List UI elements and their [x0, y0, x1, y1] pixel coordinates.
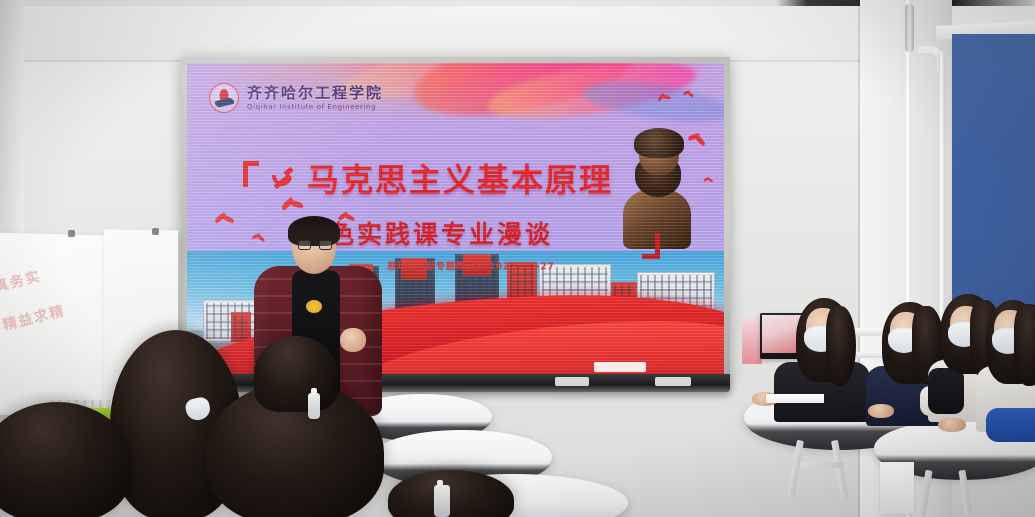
student-seated-4: [980, 300, 1035, 418]
bracket-close-icon: [642, 233, 660, 259]
marx-bust-icon: [621, 131, 693, 249]
whiteboard-text-2: 精益求精: [1, 300, 68, 334]
shirt-graphic: [306, 300, 322, 313]
slide-title-text: 马克思主义基本原理: [307, 155, 613, 201]
student-hand: [938, 418, 966, 432]
student-hair-side: [1014, 304, 1035, 386]
student-foreground-4: [254, 336, 338, 412]
student-hair-side: [826, 306, 856, 386]
swallow-bird-icon: [682, 91, 694, 100]
paper-sheet: [880, 462, 914, 514]
classroom-photo: 齐齐哈尔工程学院 Qiqihar Institute of Engineerin…: [0, 0, 1035, 517]
screen-indicator-badge: [594, 362, 646, 372]
swallow-bird-icon: [703, 178, 713, 185]
water-bottle: [434, 485, 450, 517]
student-sleeve: [928, 368, 964, 414]
university-emblem-icon: [209, 83, 239, 113]
student-hand: [868, 404, 894, 418]
bracket-open-icon: [243, 161, 259, 187]
university-name-en: Qiqihar Institute of Engineering: [247, 104, 383, 111]
wall-poster: [742, 318, 762, 364]
blue-wall-panel: [952, 34, 1035, 334]
slide-title-main: 马克思主义基本原理: [243, 155, 613, 201]
hammer-and-sickle-icon: [267, 163, 297, 193]
ceiling-pipe-icon: [905, 4, 914, 52]
water-bottle: [308, 393, 320, 419]
student-blue-sleeve: [986, 408, 1035, 442]
whiteboard-panel-left: 求真务实 精益求精: [0, 233, 106, 418]
board-clip-icon: [152, 228, 159, 235]
paper-sheet: [766, 394, 824, 403]
screen-status-badge: [555, 377, 589, 386]
presenter-hand-right: [340, 328, 366, 352]
swallow-bird-icon: [214, 213, 234, 228]
wall-conduit-pipe-icon: [938, 52, 945, 337]
whiteboard-text-1: 求真务实: [0, 266, 43, 300]
screen-status-badge-2: [655, 377, 691, 386]
university-logo: 齐齐哈尔工程学院 Qiqihar Institute of Engineerin…: [209, 83, 383, 113]
upper-wall-band: [0, 0, 920, 62]
table-crossbar: [800, 462, 844, 468]
screen-caption: 思政教学部专题教研室 2022-10-27: [387, 259, 555, 272]
eyeglasses-icon: [298, 240, 332, 250]
board-clip-icon: [68, 230, 75, 237]
university-name-cn: 齐齐哈尔工程学院: [247, 86, 383, 101]
